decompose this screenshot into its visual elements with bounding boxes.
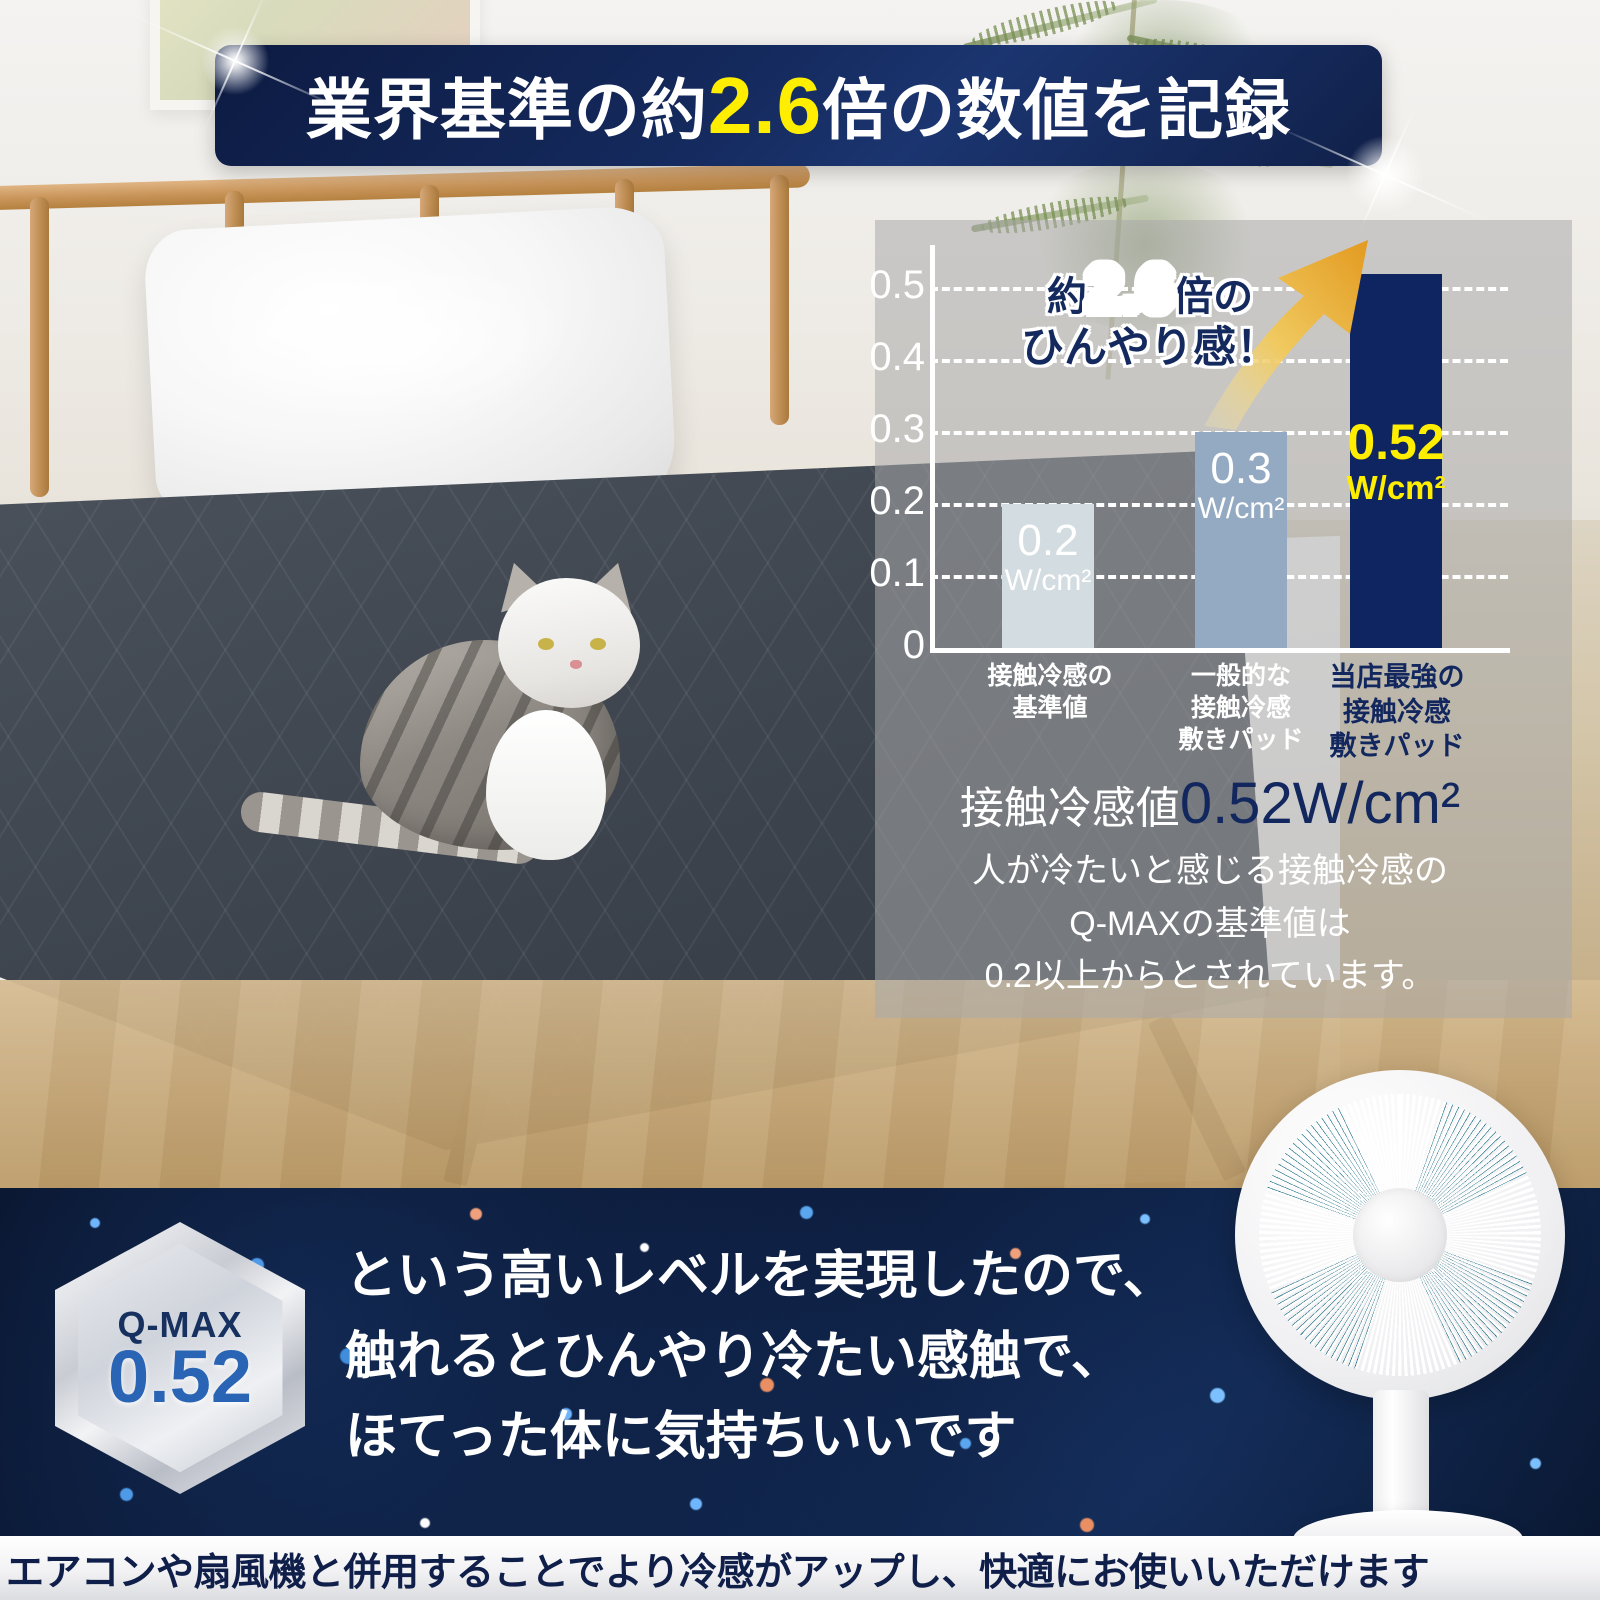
y-axis xyxy=(930,245,935,653)
bottom-copy-line: という高いレベルを実現したので、 xyxy=(345,1236,1245,1317)
x-tick-label: 当店最強の 接触冷感 敷きパッド xyxy=(1316,660,1478,764)
bar-unit: W/cm² xyxy=(1198,492,1285,527)
x-axis xyxy=(930,648,1510,653)
x-tick-label: 接触冷感の 基準値 xyxy=(970,660,1130,724)
y-tick-label: 0.3 xyxy=(855,409,925,449)
bar-value: 0.2 xyxy=(1017,518,1078,564)
sub-copy-line: 人が冷たいと感じる接触冷感の xyxy=(890,845,1530,898)
sub-copy-line: 0.2以上からとされています。 xyxy=(890,950,1530,1003)
headline-text: 業界基準の約2.6倍の数値を記録 xyxy=(306,66,1291,146)
lead-value: 0.52W/cm² xyxy=(1180,771,1460,836)
footer-caption-text: エアコンや扇風機と併用することでより冷感がアップし、快適にお使いいただけます xyxy=(0,1541,1429,1596)
y-tick-label: 0.4 xyxy=(855,337,925,377)
bar-unit: W/cm² xyxy=(1347,469,1446,507)
bar-unit: W/cm² xyxy=(1005,564,1092,599)
electric-fan-icon xyxy=(1235,1070,1585,1570)
bottom-banner-copy: という高いレベルを実現したので、 触れるとひんやり冷たい感触で、 ほてった体に気… xyxy=(345,1236,1245,1478)
qmax-badge: Q-MAX 0.52 xyxy=(55,1222,305,1494)
callout-line2: ひんやり感！ xyxy=(985,327,1315,371)
bar-value: 0.3 xyxy=(1210,446,1271,492)
callout-line1: 約2.6倍の xyxy=(985,258,1315,321)
y-tick-label: 0.5 xyxy=(855,265,925,305)
bar-typical: 0.3 W/cm² xyxy=(1195,432,1287,648)
headline-prefix: 業界基準の約 xyxy=(306,73,708,147)
y-tick-label: 0 xyxy=(855,625,925,665)
sub-copy: 人が冷たいと感じる接触冷感の Q-MAXの基準値は 0.2以上からとされています… xyxy=(890,845,1530,1003)
y-tick-label: 0.1 xyxy=(855,553,925,593)
x-tick-label: 一般的な 接触冷感 敷きパッド xyxy=(1161,660,1321,756)
tabby-cat-icon xyxy=(250,520,720,920)
callout-multiplier: 2.6 xyxy=(1087,255,1173,324)
lead-label: 接触冷感値 xyxy=(960,784,1180,833)
bar-baseline: 0.2 W/cm² xyxy=(1002,504,1094,648)
callout-suffix: 倍の xyxy=(1173,275,1253,319)
cooling-callout: 約2.6倍の ひんやり感！ xyxy=(985,258,1315,371)
pillow-icon xyxy=(143,205,677,522)
bottom-copy-line: 触れるとひんやり冷たい感触で、 xyxy=(345,1317,1245,1398)
callout-prefix: 約 xyxy=(1047,275,1087,319)
headline-highlight: 2.6 xyxy=(708,61,822,150)
footer-caption-bar: エアコンや扇風機と併用することでより冷感がアップし、快適にお使いいただけます xyxy=(0,1536,1600,1600)
sub-copy-line: Q-MAXの基準値は xyxy=(890,898,1530,951)
headline-banner: 業界基準の約2.6倍の数値を記録 xyxy=(215,45,1382,166)
y-tick-label: 0.2 xyxy=(855,481,925,521)
headline-suffix: 倍の数値を記録 xyxy=(822,73,1291,147)
bottom-copy-line: ほてった体に気持ちいいです xyxy=(345,1397,1245,1478)
ad-creative: 業界基準の約2.6倍の数値を記録 0.5 0.4 0.3 0.2 0.1 0 0… xyxy=(0,0,1600,1600)
lead-copy: 接触冷感値0.52W/cm² xyxy=(890,775,1530,833)
badge-value: 0.52 xyxy=(55,1340,305,1414)
